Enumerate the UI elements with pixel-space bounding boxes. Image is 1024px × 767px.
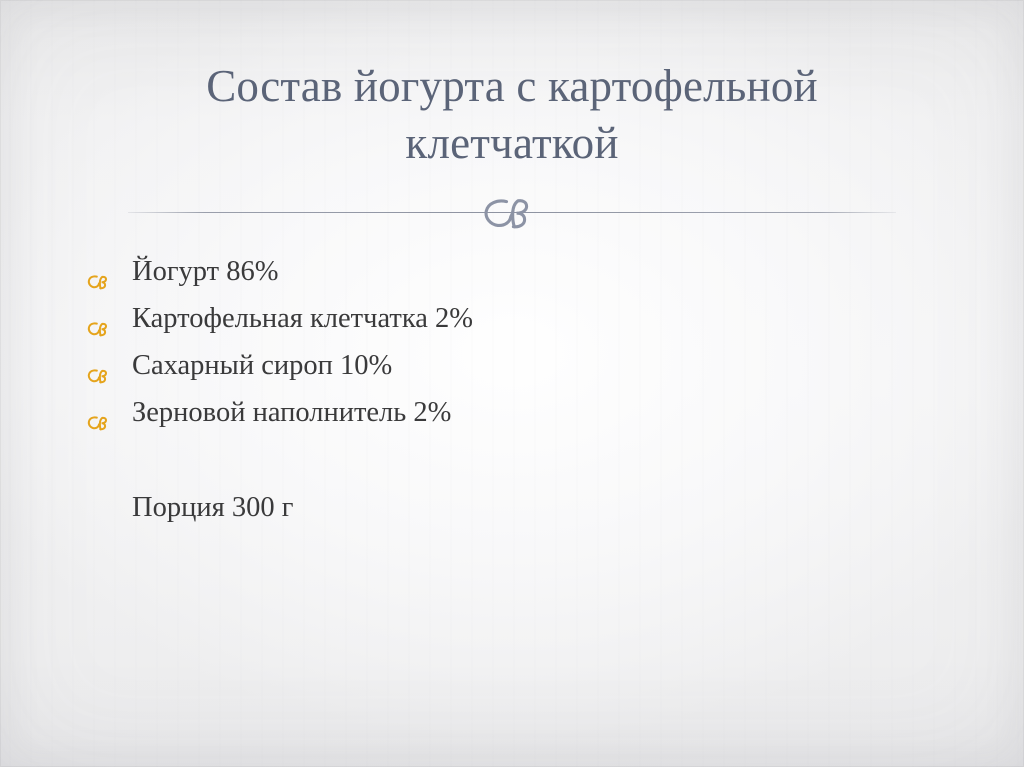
- serving-note-row[interactable]: Порция 300 г: [86, 494, 946, 523]
- divider-ornament-container: [460, 197, 564, 231]
- list-item-label: Картофельная клетчатка 2%: [132, 305, 473, 334]
- slide-title-placeholder[interactable]: Состав йогурта с картофельной клетчаткой: [96, 58, 928, 171]
- list-item-label: Зерновой наполнитель 2%: [132, 399, 451, 428]
- cb-flourish-bullet-icon: [86, 272, 132, 292]
- page-title: Состав йогурта с картофельной клетчаткой: [96, 58, 928, 171]
- serving-note-label: Порция 300 г: [132, 492, 293, 523]
- list-item[interactable]: Зерновой наполнитель 2%: [86, 399, 946, 446]
- list-item[interactable]: Сахарный сироп 10%: [86, 352, 946, 399]
- presentation-slide: Состав йогурта с картофельной клетчаткой: [0, 0, 1024, 767]
- list-item-label: Йогурт 86%: [132, 258, 278, 287]
- cb-flourish-bullet-icon: [86, 413, 132, 433]
- list-item-label: Сахарный сироп 10%: [132, 352, 392, 381]
- list-item[interactable]: Картофельная клетчатка 2%: [86, 305, 946, 352]
- list-item[interactable]: Йогурт 86%: [86, 258, 946, 305]
- cb-flourish-bullet-icon: [86, 319, 132, 339]
- cb-flourish-bullet-icon: [86, 366, 132, 386]
- slide-body-placeholder[interactable]: Йогурт 86% Картофельная клетчатка 2%: [86, 258, 946, 523]
- cb-flourish-ornament-icon: [476, 197, 548, 231]
- title-divider: [128, 197, 896, 231]
